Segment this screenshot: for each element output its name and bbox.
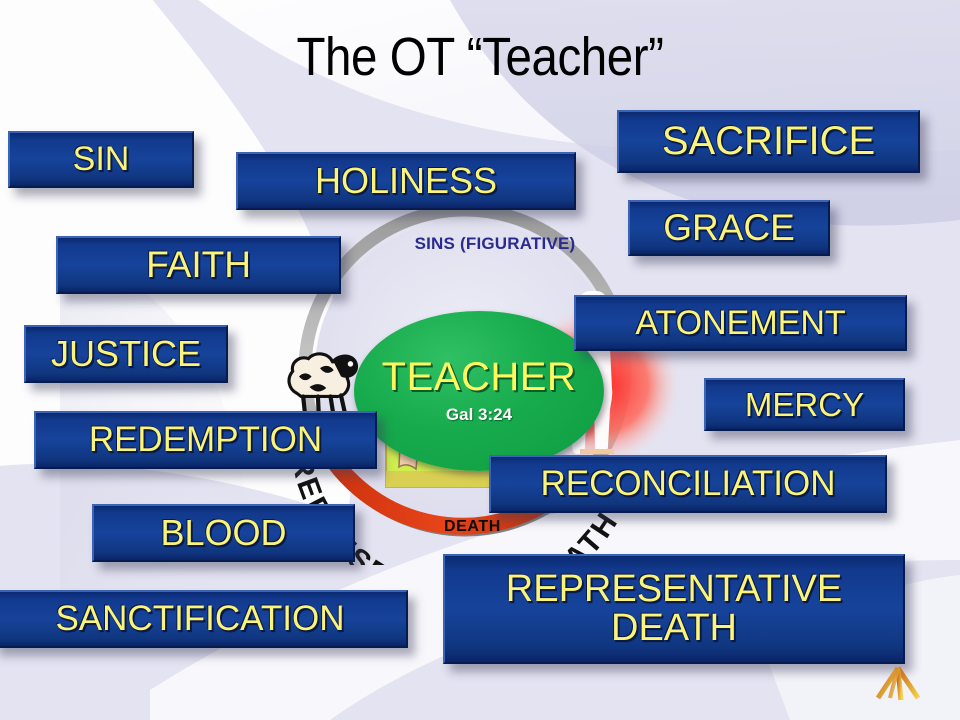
page-title: The OT “Teacher” — [58, 26, 903, 88]
term-plate-label: REDEMPTION — [89, 422, 322, 458]
term-plate-label: HOLINESS — [315, 163, 497, 200]
term-plate-label: RECONCILIATION — [541, 466, 836, 502]
tripod-logo-icon — [868, 648, 930, 704]
term-plate-grace[interactable]: GRACE — [628, 200, 830, 256]
term-plate-reconciliation[interactable]: RECONCILIATION — [489, 455, 887, 513]
term-plate-justice[interactable]: JUSTICE — [24, 325, 228, 383]
term-plate-label: SANCTIFICATION — [55, 601, 344, 637]
term-plate-label: FAITH — [146, 246, 251, 284]
teacher-oval: TEACHER Gal 3:24 — [354, 311, 604, 471]
term-plate-label: ATONEMENT — [635, 306, 845, 341]
term-plate-label: MERCY — [745, 388, 864, 422]
term-plate-label: REPRESENTATIVE DEATH — [506, 570, 842, 648]
term-plate-label: GRACE — [663, 209, 795, 247]
term-plate-faith[interactable]: FAITH — [56, 236, 341, 294]
term-plate-label: JUSTICE — [51, 336, 201, 373]
term-plate-atonement[interactable]: ATONEMENT — [574, 295, 907, 351]
term-plate-mercy[interactable]: MERCY — [704, 378, 905, 431]
term-plate-label: BLOOD — [160, 515, 286, 552]
term-plate-blood[interactable]: BLOOD — [92, 504, 355, 562]
term-plate-holiness[interactable]: HOLINESS — [236, 152, 576, 210]
teacher-oval-title: TEACHER — [382, 357, 577, 397]
term-plate-label: SIN — [73, 142, 130, 177]
term-plate-redemption[interactable]: REDEMPTION — [34, 411, 377, 469]
term-plate-sacrifice[interactable]: SACRIFICE — [617, 110, 920, 173]
teacher-oval-reference: Gal 3:24 — [446, 405, 512, 425]
slide-canvas: REPRESENTATIVE DEATH SINS (FIGURATIVE) D… — [0, 0, 960, 720]
death-label: DEATH — [444, 518, 501, 536]
term-plate-sin[interactable]: SIN — [8, 131, 194, 188]
term-plate-label: SACRIFICE — [662, 121, 875, 162]
sins-figurative-label: SINS (FIGURATIVE) — [400, 234, 590, 253]
term-plate-sanctification[interactable]: SANCTIFICATION — [0, 590, 408, 648]
term-plate-representative-death[interactable]: REPRESENTATIVE DEATH — [443, 554, 905, 664]
